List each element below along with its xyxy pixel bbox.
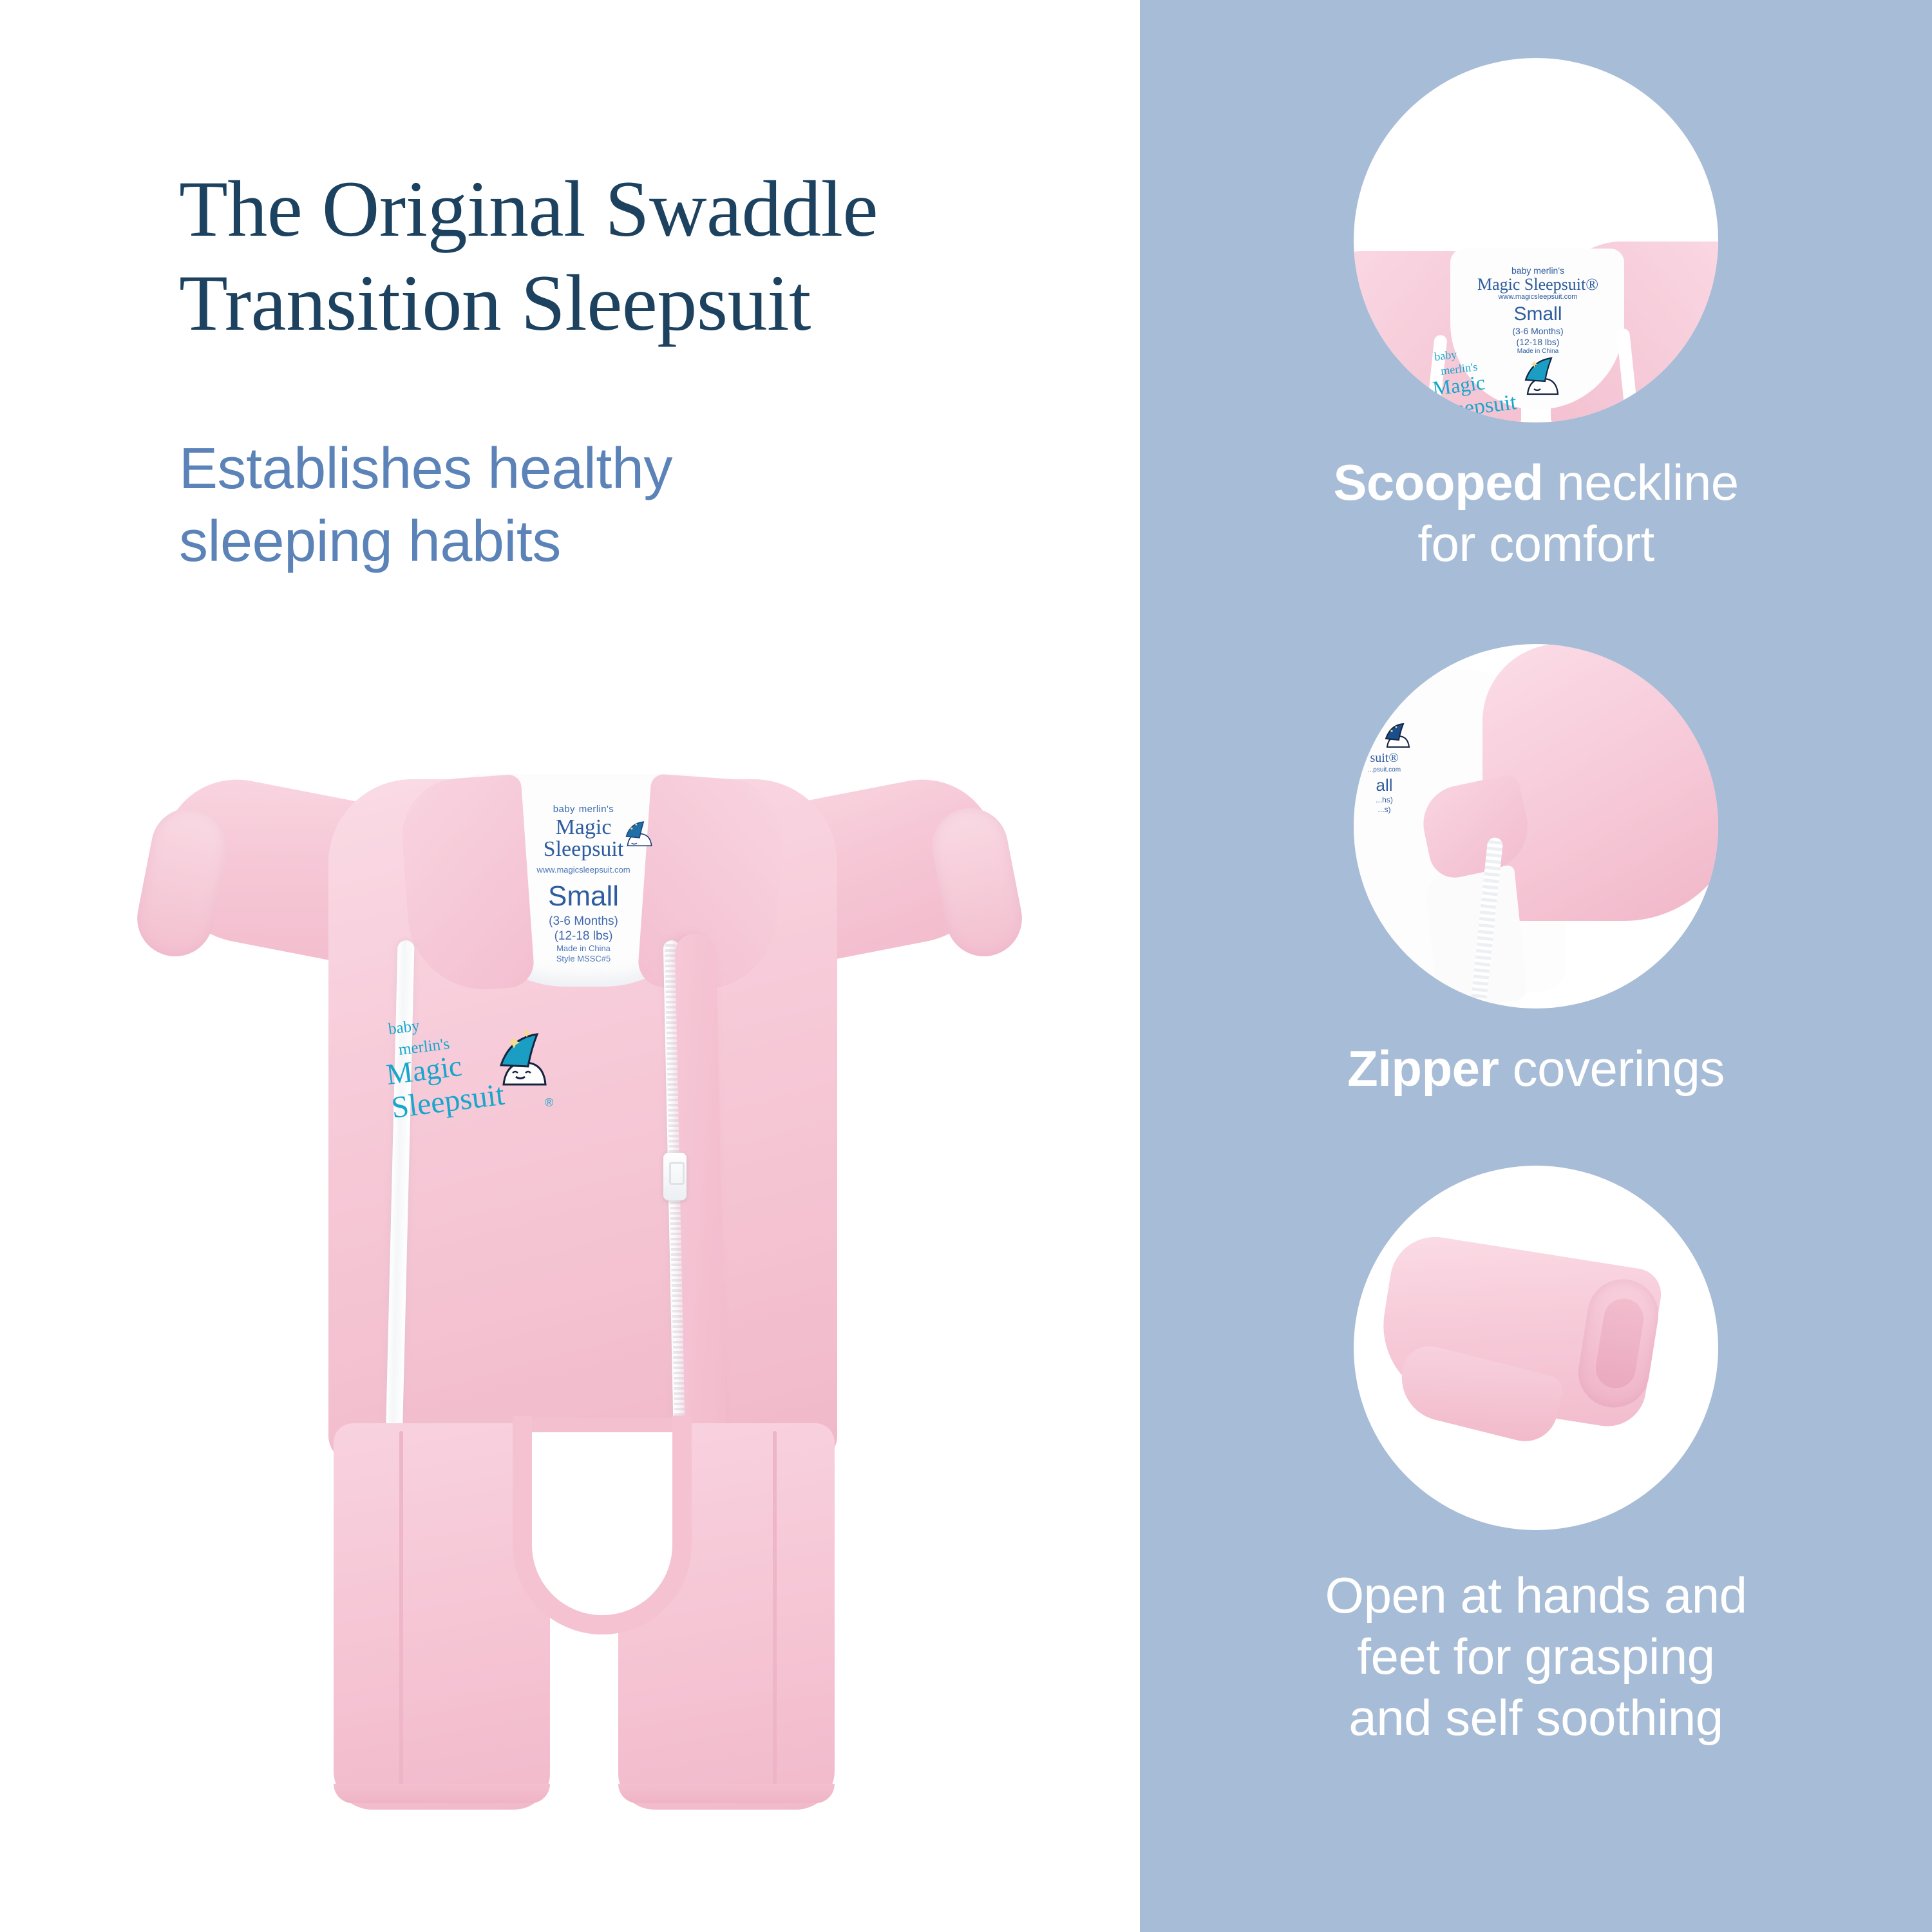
inset2-size: all xyxy=(1354,775,1441,796)
garment-size-label: baby merlin's Magic Sleepsuit www.magics… xyxy=(487,800,680,964)
infographic-canvas: The Original Swaddle Transition Sleepsui… xyxy=(0,0,1932,1932)
subtitle-line-1: Establishes healthy xyxy=(179,433,952,506)
product-crotch-arch xyxy=(513,1416,692,1634)
inset2-age: ...hs) xyxy=(1354,795,1441,805)
feature-scooped-neckline: baby merlin's Magic Sleepsuit® www.magic… xyxy=(1140,58,1932,574)
inset2-url: ...psuit.com xyxy=(1354,766,1441,775)
page-subtitle: Establishes healthy sleeping habits xyxy=(179,433,952,579)
left-content-panel: The Original Swaddle Transition Sleepsui… xyxy=(0,0,1140,1932)
product-left-leg-hem xyxy=(334,1784,550,1803)
page-title: The Original Swaddle Transition Sleepsui… xyxy=(179,162,1081,351)
product-zipper-slider xyxy=(663,1153,687,1200)
feature-2-photo: suit® ...psuit.com all ...hs) ...s) xyxy=(1354,644,1718,1009)
feature-1-caption-line-2: for comfort xyxy=(1140,513,1932,574)
embroidery-baby: baby xyxy=(387,1018,421,1038)
feature-2-caption-line-1: Zipper coverings xyxy=(1140,1038,1932,1099)
headline-line-2: Transition Sleepsuit xyxy=(179,256,1081,350)
inset1-chest-logo: baby merlin's Magic Sleepsuit xyxy=(1431,346,1592,422)
inset2-wizard-icon xyxy=(1378,721,1414,757)
subtitle-line-2: sleeping habits xyxy=(179,506,952,578)
feature-1-caption-rest: neckline xyxy=(1543,454,1738,511)
feature-1-photo: baby merlin's Magic Sleepsuit® www.magic… xyxy=(1354,58,1718,422)
product-right-leg-seam xyxy=(773,1431,777,1802)
inset1-wizard-icon xyxy=(1526,358,1558,394)
feature-3-caption-line-1: Open at hands and xyxy=(1140,1565,1932,1626)
label-origin: Made in China xyxy=(487,943,680,954)
inset1-size-label: baby merlin's Magic Sleepsuit® www.magic… xyxy=(1463,265,1613,355)
inset1-brand-name: Magic Sleepsuit® xyxy=(1463,276,1613,293)
label-brand-baby: baby xyxy=(553,804,575,815)
product-chest-logo: baby merlin's Magic Sleepsuit ® xyxy=(384,1018,603,1133)
inset1-age: (3-6 Months) xyxy=(1463,326,1613,337)
label-url: www.magicsleepsuit.com xyxy=(536,865,630,875)
feature-zipper-coverings: suit® ...psuit.com all ...hs) ...s) xyxy=(1140,644,1932,1099)
feature-open-hands-and-feet: Open at hands and feet for grasping and … xyxy=(1140,1166,1932,1748)
feature-3-caption-line-3: and self soothing xyxy=(1140,1687,1932,1748)
product-right-cuff xyxy=(925,802,1028,963)
feature-1-caption-line-1: Scooped neckline xyxy=(1140,452,1932,513)
feature-3-photo xyxy=(1354,1166,1718,1530)
product-left-leg-seam xyxy=(399,1431,403,1802)
feature-2-caption-bold: Zipper xyxy=(1347,1040,1499,1097)
embroidery-registered: ® xyxy=(545,1096,553,1109)
feature-3-caption: Open at hands and feet for grasping and … xyxy=(1140,1565,1932,1748)
inset1-url: www.magicsleepsuit.com xyxy=(1463,293,1613,301)
headline-line-1: The Original Swaddle xyxy=(179,162,1081,256)
feature-2-caption: Zipper coverings xyxy=(1140,1038,1932,1099)
label-age-range: (3-6 Months) xyxy=(487,914,680,929)
label-style-code: Style MSSC#5 xyxy=(487,954,680,964)
product-hero-photo: baby merlin's Magic Sleepsuit www.magics… xyxy=(129,741,1030,1803)
wizard-baby-embroidery-icon xyxy=(501,1028,545,1084)
label-brand-merlins: merlin's xyxy=(579,804,614,815)
feature-1-caption: Scooped neckline for comfort xyxy=(1140,452,1932,574)
feature-2-caption-rest: coverings xyxy=(1499,1040,1725,1097)
feature-3-caption-line-2: feet for grasping xyxy=(1140,1626,1932,1687)
features-panel: baby merlin's Magic Sleepsuit® www.magic… xyxy=(1140,0,1932,1932)
feature-1-caption-bold: Scooped xyxy=(1333,454,1543,511)
inset1-size: Small xyxy=(1463,303,1613,326)
product-left-cuff xyxy=(131,802,234,963)
label-weight-range: (12-18 lbs) xyxy=(487,929,680,943)
wizard-baby-icon xyxy=(618,819,658,859)
inset1-embroidery-baby: baby xyxy=(1434,348,1457,363)
label-size: Small xyxy=(487,879,680,914)
product-right-leg-hem xyxy=(618,1784,835,1803)
